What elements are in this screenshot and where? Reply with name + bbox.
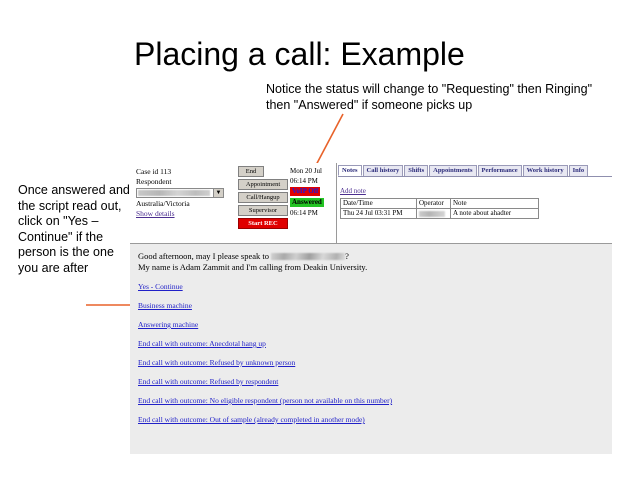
table-row[interactable]: Thu 24 Jul 03:31 PM A note about ahadter <box>341 209 539 219</box>
cell-datetime: Thu 24 Jul 03:31 PM <box>341 209 417 219</box>
annotation-status-note: Notice the status will change to "Reques… <box>266 82 606 113</box>
tab-strip: Notes Call history Shifts Appointments P… <box>338 165 612 177</box>
outcome-business-machine[interactable]: Business machine <box>138 301 192 310</box>
add-note-link[interactable]: Add note <box>340 187 366 195</box>
column-header-operator: Operator <box>417 199 451 209</box>
outcome-out-of-sample[interactable]: End call with outcome: Out of sample (al… <box>138 415 365 424</box>
script-line-2: My name is Adam Zammit and I'm calling f… <box>138 262 612 273</box>
outcome-no-eligible-respondent[interactable]: End call with outcome: No eligible respo… <box>138 396 392 405</box>
app-header-region: Case id 113 Respondent ▼ Australia/Victo… <box>130 163 612 244</box>
script-line-1-after: ? <box>345 251 349 261</box>
tabs-panel: Notes Call history Shifts Appointments P… <box>338 165 612 243</box>
appointment-button[interactable]: Appointment <box>238 179 288 190</box>
outcome-answering-machine[interactable]: Answering machine <box>138 320 198 329</box>
status-time-top: 06:14 PM <box>290 176 334 186</box>
respondent-name-redacted <box>271 253 345 260</box>
case-id-label: Case id 113 <box>136 167 232 177</box>
call-hangup-button[interactable]: Call/Hangup <box>238 192 288 203</box>
cell-note: A note about ahadter <box>451 209 539 219</box>
outcome-refused-by-respondent[interactable]: End call with outcome: Refused by respon… <box>138 377 278 386</box>
notes-tab-content: Add note Date/Time Operator Note Thu 24 … <box>338 177 612 219</box>
chevron-down-icon[interactable]: ▼ <box>213 189 223 197</box>
tab-appointments[interactable]: Appointments <box>429 165 476 176</box>
table-header-row: Date/Time Operator Note <box>341 199 539 209</box>
script-line-1-before: Good afternoon, may I please speak to <box>138 251 271 261</box>
vertical-divider <box>336 163 337 243</box>
operator-value-redacted <box>419 211 445 217</box>
supervisor-button[interactable]: Supervisor <box>238 205 288 216</box>
tab-shifts[interactable]: Shifts <box>404 165 428 176</box>
outcome-refused-by-unknown-person[interactable]: End call with outcome: Refused by unknow… <box>138 358 295 367</box>
tab-strip-filler <box>589 165 612 176</box>
cell-operator <box>417 209 451 219</box>
page-title: Placing a call: Example <box>134 36 465 73</box>
script-line-1: Good afternoon, may I please speak to ? <box>138 251 612 262</box>
tab-call-history[interactable]: Call history <box>363 165 404 176</box>
respondent-value-redacted <box>138 190 210 196</box>
status-date: Mon 20 Jul <box>290 166 334 176</box>
slide: Placing a call: Example Notice the statu… <box>0 0 640 480</box>
column-header-datetime: Date/Time <box>341 199 417 209</box>
status-panel: Mon 20 Jul 06:14 PM VoIP Off Answered 06… <box>290 166 334 218</box>
start-rec-button[interactable]: Start REC <box>238 218 288 229</box>
respondent-select[interactable]: ▼ <box>136 188 224 198</box>
outcome-anecdotal-hang-up[interactable]: End call with outcome: Anecdotal hang up <box>138 339 266 348</box>
case-info-panel: Case id 113 Respondent ▼ Australia/Victo… <box>136 167 232 219</box>
show-details-link[interactable]: Show details <box>136 209 175 219</box>
outcome-links-list: Yes - Continue Business machine Answerin… <box>138 282 612 424</box>
notes-table: Date/Time Operator Note Thu 24 Jul 03:31… <box>340 198 539 219</box>
timezone-label: Australia/Victoria <box>136 199 232 209</box>
end-button[interactable]: End <box>238 166 264 177</box>
outcome-yes-continue[interactable]: Yes - Continue <box>138 282 183 291</box>
status-time-bottom: 06:14 PM <box>290 208 334 218</box>
column-header-note: Note <box>451 199 539 209</box>
voip-status-badge: VoIP Off <box>290 187 320 196</box>
respondent-label: Respondent <box>136 177 232 187</box>
app-screenshot: Case id 113 Respondent ▼ Australia/Victo… <box>130 163 612 454</box>
call-control-buttons: End Appointment Call/Hangup Supervisor S… <box>238 166 290 231</box>
tab-info[interactable]: Info <box>569 165 589 176</box>
annotation-yes-continue-note: Once answered and the script read out, c… <box>18 183 130 276</box>
tab-performance[interactable]: Performance <box>478 165 522 176</box>
tab-work-history[interactable]: Work history <box>523 165 568 176</box>
script-region: Good afternoon, may I please speak to ? … <box>130 244 612 454</box>
tab-notes[interactable]: Notes <box>338 165 362 176</box>
call-status-badge: Answered <box>290 198 324 207</box>
